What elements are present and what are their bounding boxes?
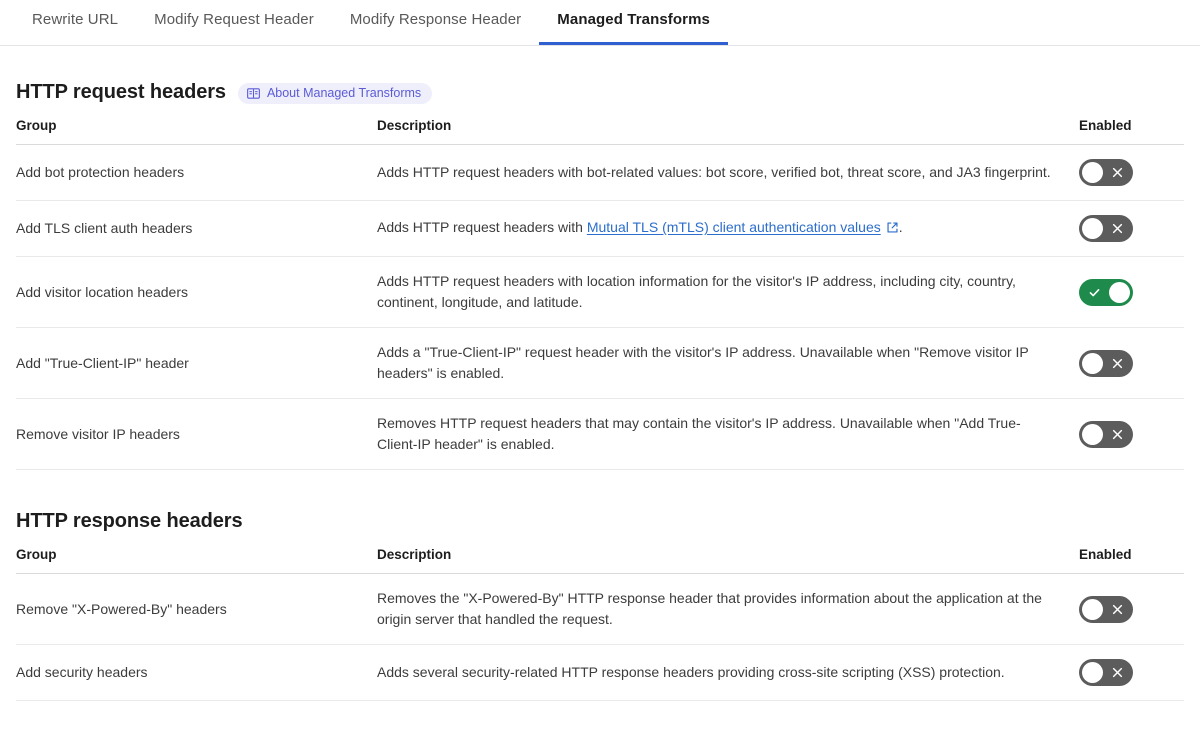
row-description: Adds HTTP request headers with bot-relat…	[371, 145, 1079, 201]
table-row: Add bot protection headers Adds HTTP req…	[16, 145, 1184, 201]
request-headers-table: Group Description Enabled Add bot protec…	[16, 118, 1184, 470]
request-section-header: HTTP request headers About Managed Trans…	[16, 80, 1184, 104]
tab-modify-response-header[interactable]: Modify Response Header	[332, 0, 539, 45]
toggle-add-tls-client-auth-headers[interactable]	[1079, 215, 1133, 242]
row-group-name: Add TLS client auth headers	[16, 201, 371, 257]
external-link-icon[interactable]	[886, 219, 899, 240]
row-enabled-cell	[1079, 257, 1184, 328]
description-prefix: Adds HTTP request headers with	[377, 219, 587, 235]
toggle-knob	[1082, 218, 1103, 239]
toggle-add-true-client-ip-header[interactable]	[1079, 350, 1133, 377]
toggle-knob	[1082, 424, 1103, 445]
close-icon	[1104, 659, 1131, 686]
row-description: Adds HTTP request headers with location …	[371, 257, 1079, 328]
close-icon	[1104, 350, 1131, 377]
row-group-name: Add bot protection headers	[16, 145, 371, 201]
check-icon	[1081, 279, 1108, 306]
table-row: Add "True-Client-IP" header Adds a "True…	[16, 328, 1184, 399]
column-header-group: Group	[16, 118, 371, 145]
row-description: Adds a "True-Client-IP" request header w…	[371, 328, 1079, 399]
row-enabled-cell	[1079, 201, 1184, 257]
mutual-tls-link[interactable]: Mutual TLS (mTLS) client authentication …	[587, 219, 881, 235]
row-description: Adds HTTP request headers with Mutual TL…	[371, 201, 1079, 257]
toggle-knob	[1109, 282, 1130, 303]
close-icon	[1104, 596, 1131, 623]
toggle-remove-visitor-ip-headers[interactable]	[1079, 421, 1133, 448]
tab-bar: Rewrite URL Modify Request Header Modify…	[0, 0, 1200, 46]
column-header-description: Description	[371, 118, 1079, 145]
close-icon	[1104, 159, 1131, 186]
toggle-knob	[1082, 162, 1103, 183]
close-icon	[1104, 215, 1131, 242]
row-enabled-cell	[1079, 645, 1184, 701]
table-header-row: Group Description Enabled	[16, 118, 1184, 145]
toggle-knob	[1082, 353, 1103, 374]
table-row: Add TLS client auth headers Adds HTTP re…	[16, 201, 1184, 257]
row-group-name: Remove "X-Powered-By" headers	[16, 574, 371, 645]
tab-modify-request-header[interactable]: Modify Request Header	[136, 0, 332, 45]
row-enabled-cell	[1079, 328, 1184, 399]
toggle-knob	[1082, 599, 1103, 620]
toggle-add-visitor-location-headers[interactable]	[1079, 279, 1133, 306]
response-section-header: HTTP response headers	[16, 510, 1184, 533]
page-title-response: HTTP response headers	[16, 510, 243, 533]
about-badge-label: About Managed Transforms	[267, 86, 421, 100]
column-header-description: Description	[371, 547, 1079, 574]
table-row: Add visitor location headers Adds HTTP r…	[16, 257, 1184, 328]
table-header-row: Group Description Enabled	[16, 547, 1184, 574]
description-suffix: .	[899, 219, 903, 235]
row-group-name: Remove visitor IP headers	[16, 399, 371, 470]
table-row: Remove "X-Powered-By" headers Removes th…	[16, 574, 1184, 645]
row-enabled-cell	[1079, 574, 1184, 645]
toggle-remove-x-powered-by-headers[interactable]	[1079, 596, 1133, 623]
row-group-name: Add "True-Client-IP" header	[16, 328, 371, 399]
close-icon	[1104, 421, 1131, 448]
toggle-knob	[1082, 662, 1103, 683]
table-row: Remove visitor IP headers Removes HTTP r…	[16, 399, 1184, 470]
column-header-enabled: Enabled	[1079, 118, 1184, 145]
tab-rewrite-url[interactable]: Rewrite URL	[14, 0, 136, 45]
http-response-headers-section: HTTP response headers Group Description …	[0, 510, 1200, 701]
about-managed-transforms-badge[interactable]: About Managed Transforms	[238, 83, 432, 104]
row-enabled-cell	[1079, 145, 1184, 201]
book-icon	[247, 87, 260, 100]
row-description: Adds several security-related HTTP respo…	[371, 645, 1079, 701]
tab-managed-transforms[interactable]: Managed Transforms	[539, 0, 728, 45]
http-request-headers-section: HTTP request headers About Managed Trans…	[0, 80, 1200, 470]
toggle-add-bot-protection-headers[interactable]	[1079, 159, 1133, 186]
row-group-name: Add security headers	[16, 645, 371, 701]
page-title-request: HTTP request headers	[16, 81, 226, 104]
response-headers-table: Group Description Enabled Remove "X-Powe…	[16, 547, 1184, 701]
column-header-group: Group	[16, 547, 371, 574]
row-description: Removes the "X-Powered-By" HTTP response…	[371, 574, 1079, 645]
table-row: Add security headers Adds several securi…	[16, 645, 1184, 701]
row-group-name: Add visitor location headers	[16, 257, 371, 328]
row-description: Removes HTTP request headers that may co…	[371, 399, 1079, 470]
column-header-enabled: Enabled	[1079, 547, 1184, 574]
row-enabled-cell	[1079, 399, 1184, 470]
toggle-add-security-headers[interactable]	[1079, 659, 1133, 686]
